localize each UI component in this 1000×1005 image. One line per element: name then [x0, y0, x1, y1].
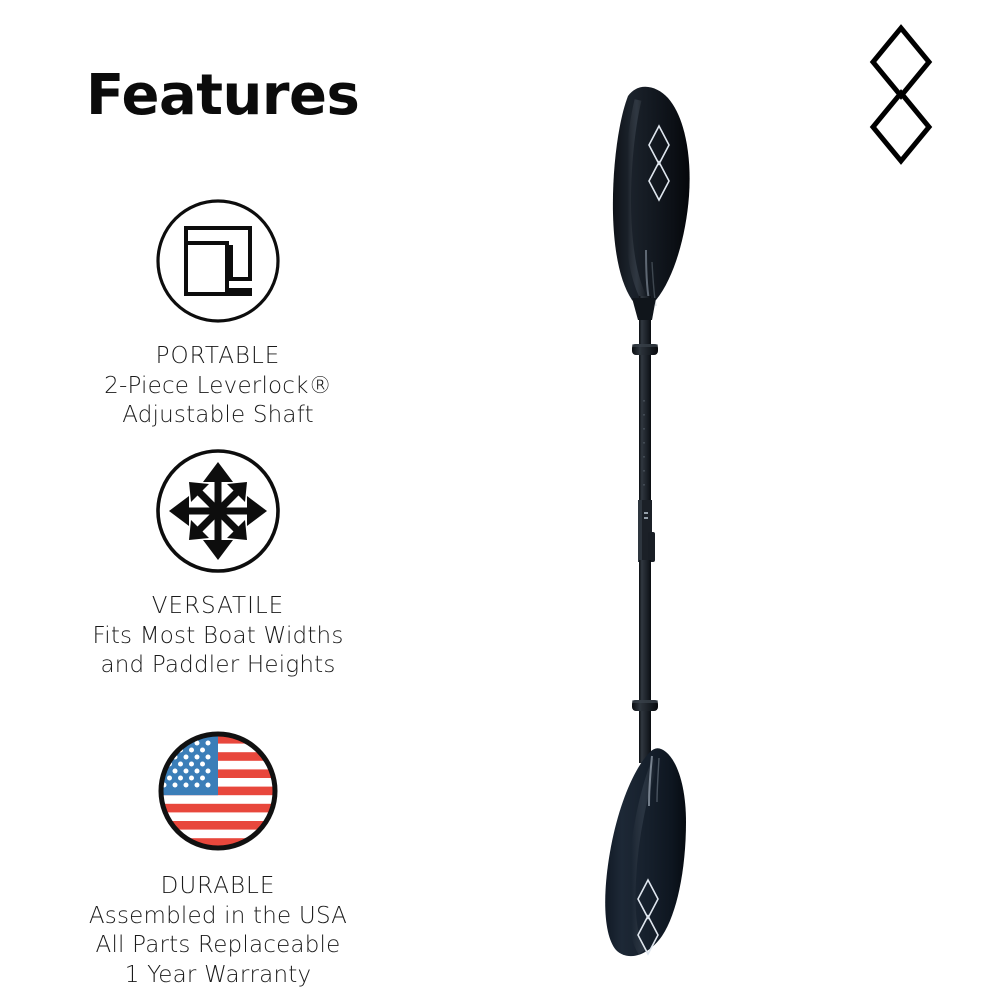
feature-line: 1 Year Warranty: [40, 961, 396, 991]
lower-drip-ring: [632, 700, 658, 711]
feature-line: Assembled in the USA: [40, 902, 396, 932]
feature-item-versatile: VERSATILE Fits Most Boat Widths and Padd…: [40, 448, 396, 681]
feature-line: Fits Most Boat Widths: [40, 622, 396, 652]
feature-text-durable: DURABLE Assembled in the USA All Parts R…: [40, 872, 396, 990]
feature-text-portable: PORTABLE 2-Piece Leverlock® Adjustable S…: [40, 342, 396, 431]
feature-line: All Parts Replaceable: [40, 931, 396, 961]
feature-title: DURABLE: [40, 872, 396, 902]
feature-line: 2-Piece Leverlock®: [40, 372, 396, 402]
interlocking-two-piece-icon: [155, 198, 281, 324]
page-title: Features: [86, 68, 359, 124]
usa-flag-icon: [155, 728, 281, 854]
feature-text-versatile: VERSATILE Fits Most Boat Widths and Padd…: [40, 592, 396, 681]
multi-direction-arrows-icon: [155, 448, 281, 574]
lower-blade: [605, 748, 686, 956]
double-diamond-logo: [866, 22, 936, 167]
upper-drip-ring: [632, 344, 658, 355]
upper-blade: [613, 87, 690, 312]
feature-item-durable: DURABLE Assembled in the USA All Parts R…: [40, 728, 396, 990]
feature-title: PORTABLE: [40, 342, 396, 372]
feature-line: Adjustable Shaft: [40, 401, 396, 431]
feature-line: and Paddler Heights: [40, 651, 396, 681]
kayak-paddle-image: [560, 0, 760, 1000]
infographic-page: Features PORTABLE 2-Piece Leverlock® Adj…: [0, 0, 1000, 1000]
feature-title: VERSATILE: [40, 592, 396, 622]
shaft-mid: [639, 355, 651, 510]
feature-item-portable: PORTABLE 2-Piece Leverlock® Adjustable S…: [40, 198, 396, 431]
shaft-lower: [639, 560, 651, 705]
